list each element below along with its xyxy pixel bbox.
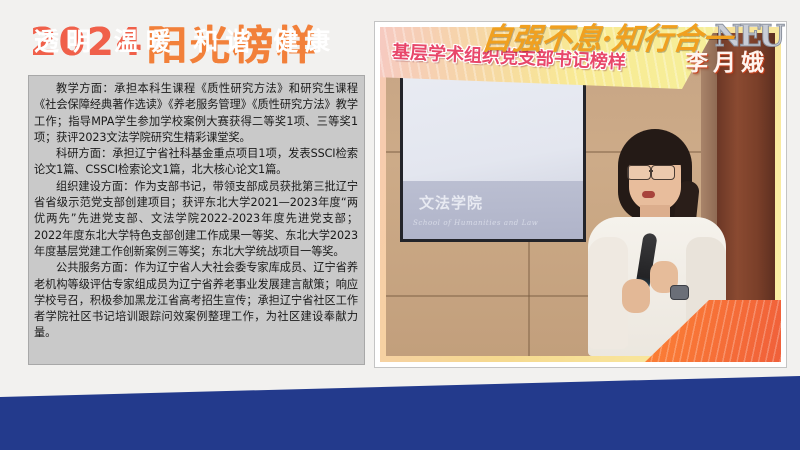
fringe-shape: [623, 135, 687, 165]
neu-motto-chinese: 自强不息·知行合一: [480, 14, 735, 58]
photo-card: 文法学院 School of Humanities and Law: [375, 22, 786, 367]
mouth-shape: [642, 191, 655, 198]
wristwatch-icon: [670, 285, 689, 300]
glasses-icon: [627, 165, 651, 180]
screen-title-chinese: 文法学院: [419, 192, 483, 213]
photo-frame: 文法学院 School of Humanities and Law: [380, 27, 781, 362]
projection-screen: 文法学院 School of Humanities and Law: [400, 59, 586, 242]
bio-paragraph-research: 科研方面：承担辽宁省社科基金重点项目1项，发表SSCI检索论文1篇、CSSCI检…: [34, 146, 358, 179]
left-hand-shape: [622, 279, 650, 313]
footer-slogan: 透明 温暖 和谐 健康: [34, 22, 337, 58]
biography-panel: 教学方面：承担本科生课程《质性研究方法》和研究生课程《社会保障经典著作选读》《养…: [28, 75, 365, 365]
slide-canvas: 2024 阳光榜样 教学方面：承担本科生课程《质性研究方法》和研究生课程《社会保…: [0, 0, 800, 450]
bio-paragraph-party-building: 组织建设方面：作为支部书记，带领支部成员获批第三批辽宁省省级示范党支部创建项目；…: [34, 179, 358, 260]
bio-paragraph-teaching: 教学方面：承担本科生课程《质性研究方法》和研究生课程《社会保障经典著作选读》《养…: [34, 81, 358, 146]
glasses-icon: [651, 165, 675, 180]
neu-logo: 自强不息·知行合一 NEU: [482, 14, 782, 58]
screen-title-english: School of Humanities and Law: [413, 219, 538, 227]
left-content-column: 2024 阳光榜样 教学方面：承担本科生课程《质性研究方法》和研究生课程《社会保…: [0, 0, 375, 450]
bio-paragraph-public-service: 公共服务方面：作为辽宁省人大社会委专家库成员、辽宁省养老机构等级评估专家组成员为…: [34, 260, 358, 341]
glasses-bridge: [649, 170, 653, 172]
